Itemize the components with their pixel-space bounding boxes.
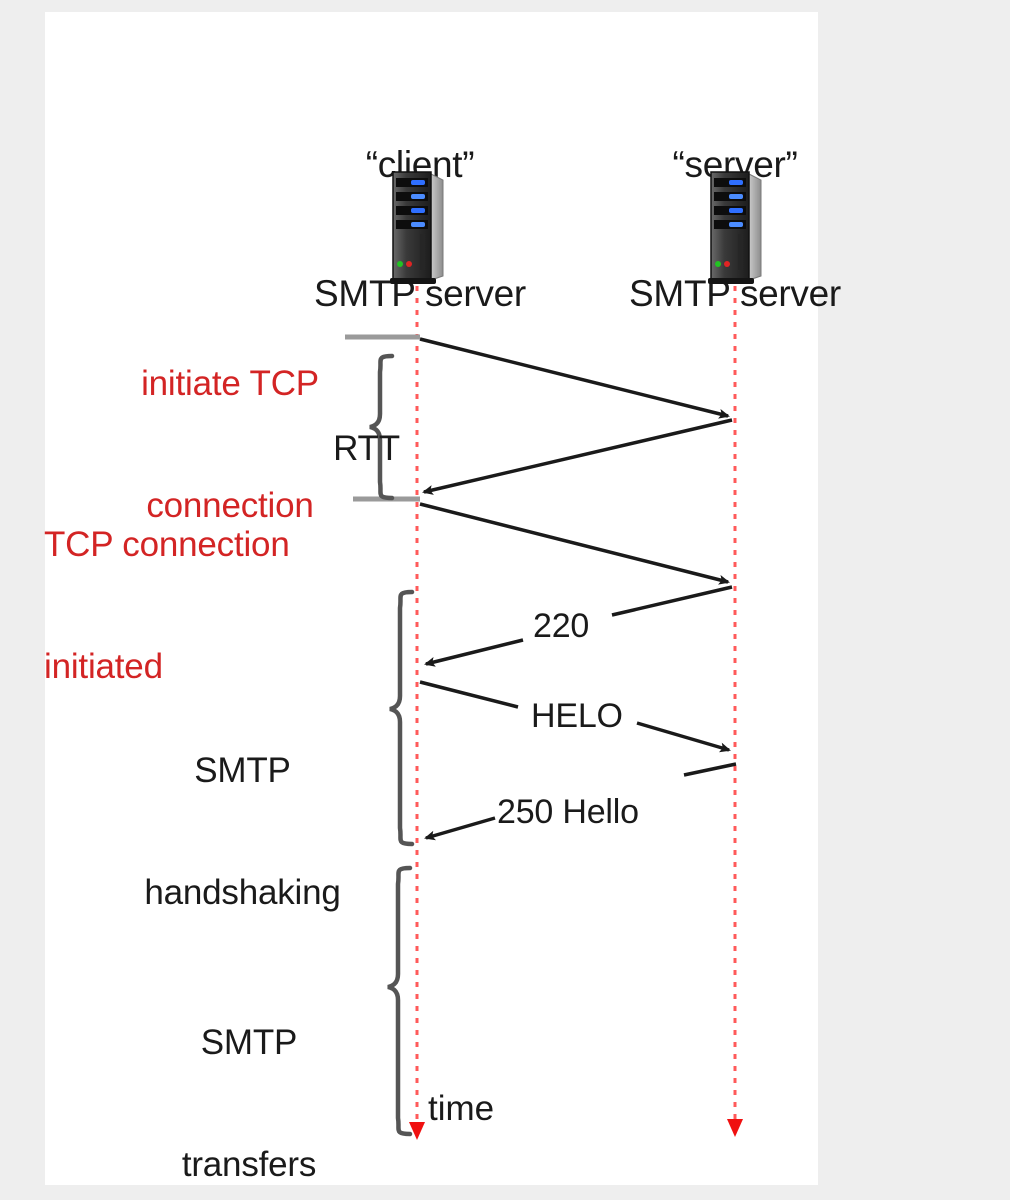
- message-label-helo: HELO: [531, 697, 623, 736]
- diagram-page: “client” SMTP server “server” SMTP serve…: [0, 0, 1010, 1200]
- annotation-smtp-transfers: SMTP transfers: [120, 942, 378, 1200]
- client-server-tower-icon: [387, 168, 449, 286]
- annotation-tcp-initiated-line1: TCP connection: [44, 525, 364, 566]
- annotation-smtp-transfers-line2: transfers: [120, 1145, 378, 1186]
- time-axis-label: time: [428, 1089, 494, 1130]
- message-label-220: 220: [533, 607, 589, 646]
- annotation-smtp-handshaking-line2: handshaking: [110, 873, 375, 914]
- server-server-tower-icon: [705, 168, 767, 286]
- message-label-250-hello: 250 Hello: [497, 793, 639, 832]
- annotation-smtp-transfers-line1: SMTP: [120, 1023, 378, 1064]
- annotation-smtp-handshaking-line1: SMTP: [110, 751, 375, 792]
